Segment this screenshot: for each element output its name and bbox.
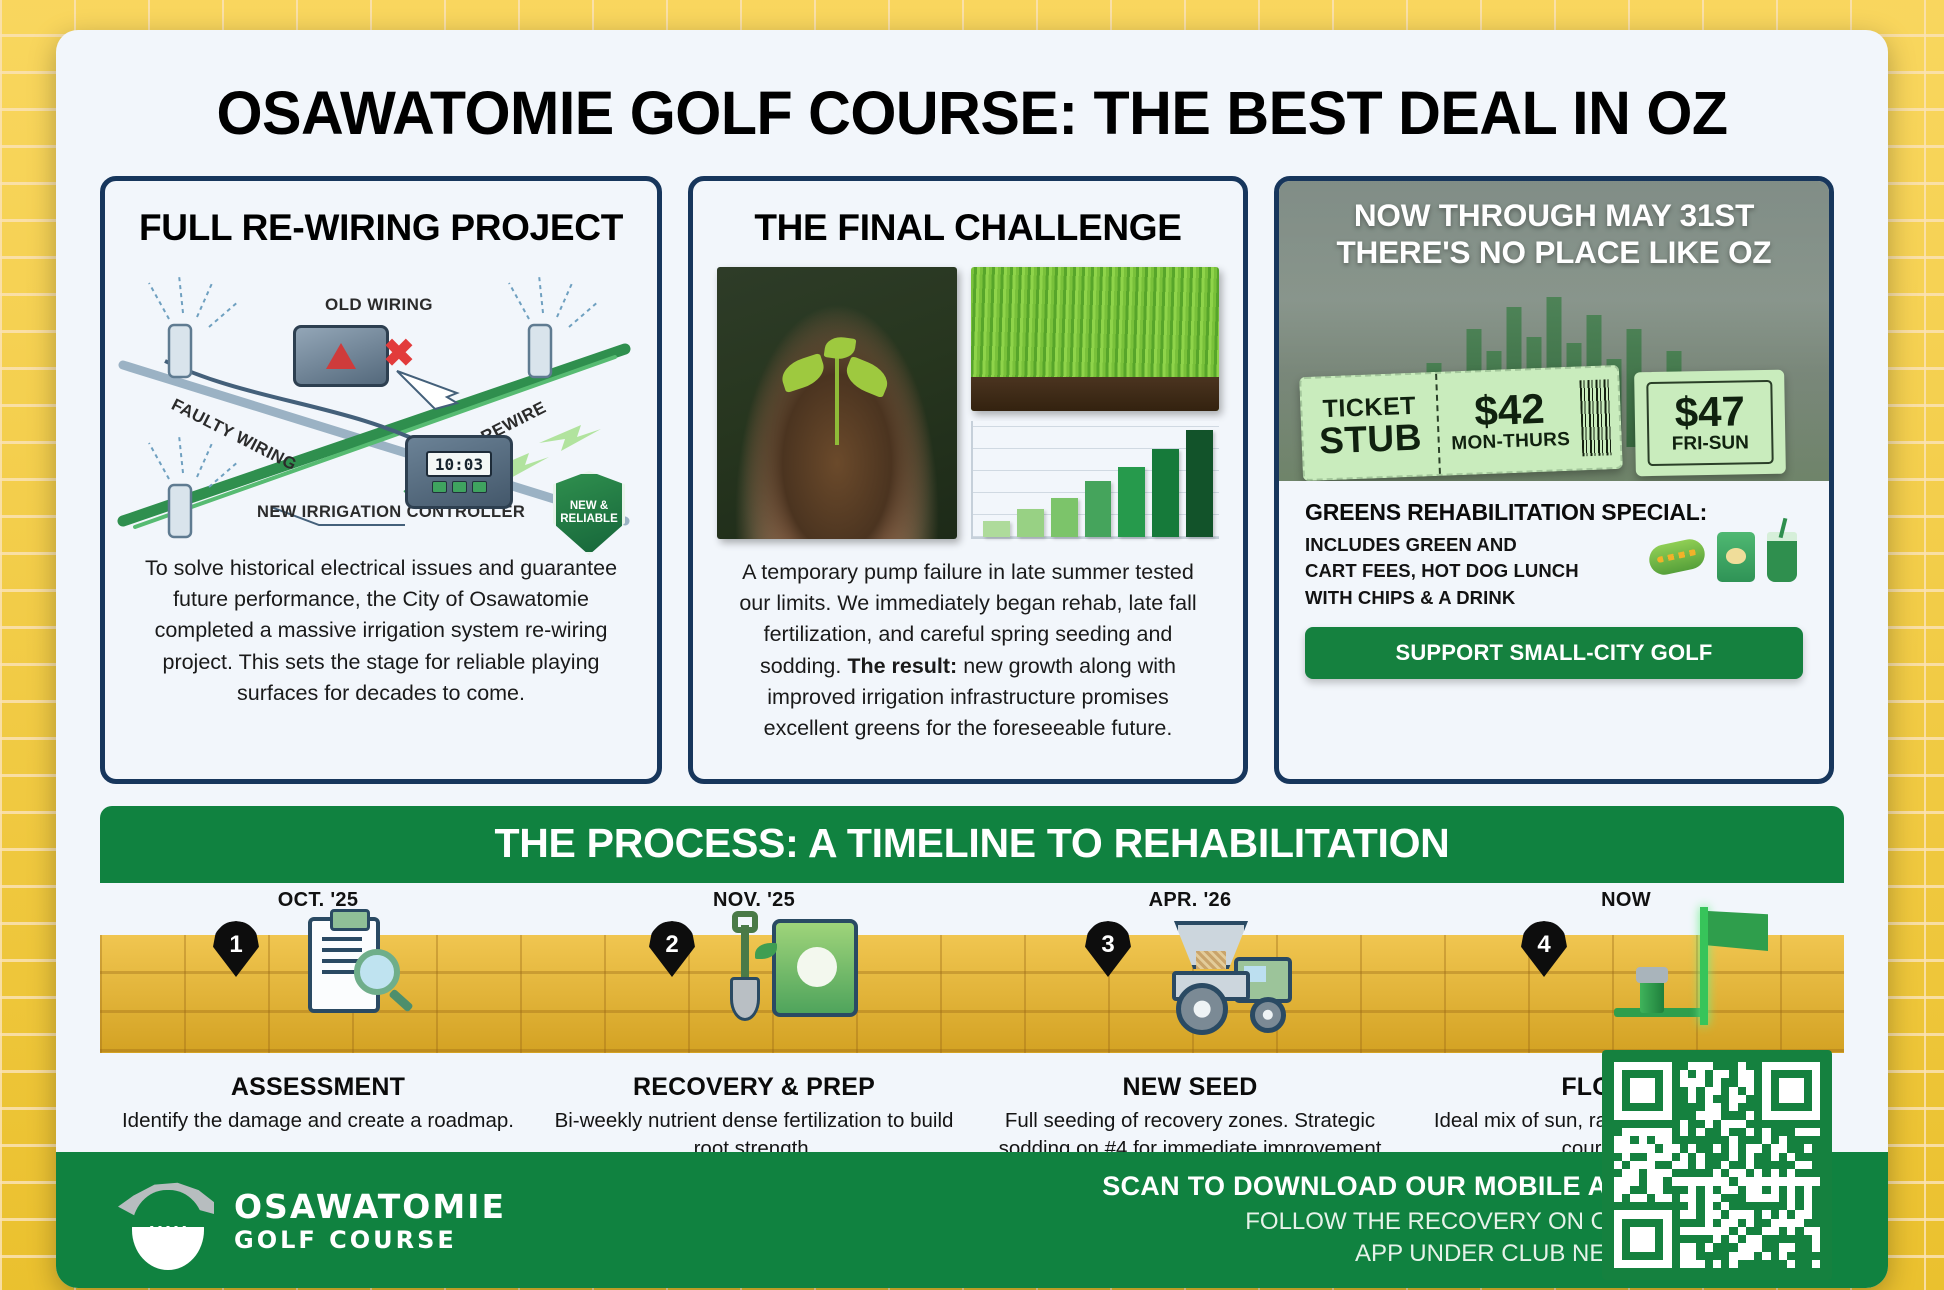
qr-module [1614, 1260, 1622, 1268]
qr-module [1754, 1202, 1762, 1210]
qr-module [1779, 1153, 1787, 1161]
qr-module [1779, 1111, 1787, 1119]
qr-module [1721, 1095, 1729, 1103]
qr-module [1754, 1210, 1762, 1218]
qr-module [1795, 1202, 1803, 1210]
timeline-heading: THE PROCESS: A TIMELINE TO REHABILITATIO… [100, 806, 1844, 883]
qr-module [1746, 1120, 1754, 1128]
qr-module [1754, 1243, 1762, 1251]
qr-module [1688, 1153, 1696, 1161]
special-description: INCLUDES GREEN AND CART FEES, HOT DOG LU… [1305, 532, 1579, 611]
qr-module [1746, 1128, 1754, 1136]
qr-module [1655, 1087, 1663, 1095]
qr-module [1812, 1136, 1820, 1144]
qr-module [1713, 1144, 1721, 1152]
qr-module [1688, 1062, 1696, 1070]
qr-module [1639, 1078, 1647, 1086]
qr-module [1663, 1227, 1671, 1235]
qr-module [1696, 1252, 1704, 1260]
qr-module [1705, 1260, 1713, 1268]
qr-module [1762, 1252, 1770, 1260]
qr-module [1721, 1078, 1729, 1086]
scan-subtext-line2: APP UNDER CLUB NEWS [1102, 1238, 1644, 1270]
qr-module [1622, 1111, 1630, 1119]
qr-module [1787, 1202, 1795, 1210]
qr-module [1795, 1087, 1803, 1095]
qr-module [1672, 1070, 1680, 1078]
qr-module [1771, 1120, 1779, 1128]
qr-module [1688, 1194, 1696, 1202]
qr-module [1754, 1128, 1762, 1136]
ticket-group: TICKET STUB $42 MON-THURS $47 [1301, 371, 1807, 475]
qr-module [1688, 1128, 1696, 1136]
qr-module [1804, 1103, 1812, 1111]
timeline-steps: OCT. '25 1 ASSESSMENT Identify the damag… [100, 883, 1844, 1191]
chart-bar [1051, 498, 1078, 537]
qr-module [1795, 1095, 1803, 1103]
qr-module [1688, 1111, 1696, 1119]
special-title: GREENS REHABILITATION SPECIAL: [1305, 499, 1803, 526]
qr-module [1663, 1243, 1671, 1251]
qr-module [1812, 1260, 1820, 1268]
qr-module [1779, 1219, 1787, 1227]
qr-module [1705, 1210, 1713, 1218]
qr-module [1779, 1210, 1787, 1218]
qr-module [1688, 1136, 1696, 1144]
qr-module [1622, 1120, 1630, 1128]
qr-module [1630, 1260, 1638, 1268]
qr-module [1787, 1103, 1795, 1111]
qr-module [1762, 1062, 1770, 1070]
qr-module [1672, 1243, 1680, 1251]
qr-module [1787, 1136, 1795, 1144]
qr-module [1729, 1144, 1737, 1152]
qr-module [1738, 1136, 1746, 1144]
chart-bar [1017, 509, 1044, 537]
chart-bar [1186, 430, 1213, 537]
qr-module [1729, 1078, 1737, 1086]
qr-module [1729, 1219, 1737, 1227]
qr-module [1688, 1070, 1696, 1078]
qr-module [1713, 1078, 1721, 1086]
qr-module [1771, 1243, 1779, 1251]
qr-module [1762, 1260, 1770, 1268]
qr-module [1622, 1144, 1630, 1152]
qr-module [1795, 1153, 1803, 1161]
qr-module [1688, 1243, 1696, 1251]
qr-module [1738, 1177, 1746, 1185]
qr-module [1647, 1243, 1655, 1251]
qr-module [1762, 1078, 1770, 1086]
qr-module [1672, 1136, 1680, 1144]
qr-module [1754, 1111, 1762, 1119]
qr-module [1705, 1062, 1713, 1070]
qr-module [1655, 1169, 1663, 1177]
qr-module [1639, 1202, 1647, 1210]
qr-module [1705, 1136, 1713, 1144]
qr-module [1630, 1103, 1638, 1111]
qr-module [1762, 1227, 1770, 1235]
hotdog-icon [1646, 537, 1707, 578]
qr-module [1746, 1177, 1754, 1185]
qr-module [1713, 1219, 1721, 1227]
qr-module [1622, 1128, 1630, 1136]
qr-module [1647, 1252, 1655, 1260]
qr-module [1614, 1070, 1622, 1078]
qr-module [1696, 1062, 1704, 1070]
qr-module [1746, 1210, 1754, 1218]
qr-module [1812, 1111, 1820, 1119]
qr-module [1729, 1095, 1737, 1103]
panels-row: FULL RE-WIRING PROJECT [56, 148, 1888, 784]
qr-module [1738, 1210, 1746, 1218]
qr-module [1680, 1070, 1688, 1078]
qr-module [1804, 1227, 1812, 1235]
qr-module [1655, 1144, 1663, 1152]
challenge-right-column [971, 267, 1219, 539]
qr-module [1655, 1252, 1663, 1260]
poster-card: OSAWATOMIE GOLF COURSE: THE BEST DEAL IN… [56, 30, 1888, 1288]
qr-module [1696, 1227, 1704, 1235]
qr-module [1713, 1186, 1721, 1194]
qr-module [1795, 1078, 1803, 1086]
qr-module [1812, 1062, 1820, 1070]
qr-module [1639, 1194, 1647, 1202]
qr-module [1721, 1186, 1729, 1194]
qr-module [1655, 1202, 1663, 1210]
qr-module [1804, 1161, 1812, 1169]
qr-module [1630, 1186, 1638, 1194]
qr-module [1721, 1235, 1729, 1243]
qr-module [1762, 1070, 1770, 1078]
qr-module [1688, 1103, 1696, 1111]
qr-module [1787, 1177, 1795, 1185]
qr-module [1812, 1177, 1820, 1185]
qr-module [1630, 1227, 1638, 1235]
qr-module [1680, 1103, 1688, 1111]
qr-module [1738, 1227, 1746, 1235]
qr-module [1639, 1087, 1647, 1095]
clipboard-magnifier-icon [288, 907, 458, 1057]
qr-module [1663, 1169, 1671, 1177]
qr-module [1672, 1078, 1680, 1086]
qr-module [1696, 1169, 1704, 1177]
qr-module [1721, 1128, 1729, 1136]
qr-module [1705, 1202, 1713, 1210]
qr-module [1622, 1202, 1630, 1210]
qr-module [1721, 1169, 1729, 1177]
qr-module [1787, 1128, 1795, 1136]
qr-module [1721, 1103, 1729, 1111]
qr-module [1614, 1153, 1622, 1161]
qr-module [1655, 1120, 1663, 1128]
qr-module [1771, 1087, 1779, 1095]
qr-module [1663, 1161, 1671, 1169]
chart-bar [1085, 481, 1112, 537]
qr-module [1696, 1194, 1704, 1202]
promo-headline-line2: THERE'S NO PLACE LIKE OZ [1293, 234, 1815, 271]
qr-module [1746, 1202, 1754, 1210]
timeline-body: OCT. '25 1 ASSESSMENT Identify the damag… [100, 883, 1844, 1191]
ticket-price-value: $42 [1474, 388, 1546, 433]
qr-module [1804, 1136, 1812, 1144]
process-timeline: THE PROCESS: A TIMELINE TO REHABILITATIO… [100, 806, 1844, 1191]
qr-module [1771, 1210, 1779, 1218]
qr-module [1721, 1210, 1729, 1218]
ticket-weekend-inner: $47 FRI-SUN [1646, 380, 1773, 466]
qr-module [1647, 1120, 1655, 1128]
qr-module [1762, 1219, 1770, 1227]
qr-module [1647, 1095, 1655, 1103]
controller-display: 10:03 [426, 451, 492, 477]
grass-seedlings-photo [971, 267, 1219, 411]
qr-module [1729, 1070, 1737, 1078]
qr-module [1746, 1194, 1754, 1202]
qr-module [1622, 1227, 1630, 1235]
qr-module [1663, 1194, 1671, 1202]
qr-module [1787, 1144, 1795, 1152]
qr-module [1804, 1128, 1812, 1136]
qr-module [1812, 1095, 1820, 1103]
qr-module [1804, 1078, 1812, 1086]
qr-module [1746, 1103, 1754, 1111]
special-line-2: CART FEES, HOT DOG LUNCH [1305, 558, 1579, 584]
qr-module [1779, 1062, 1787, 1070]
panel-final-challenge: THE FINAL CHALLENGE [688, 176, 1248, 784]
hand-holding-sprout-photo [717, 267, 957, 539]
qr-module [1639, 1252, 1647, 1260]
qr-module [1647, 1087, 1655, 1095]
qr-module [1688, 1095, 1696, 1103]
qr-module [1630, 1219, 1638, 1227]
qr-module [1746, 1144, 1754, 1152]
qr-module [1812, 1120, 1820, 1128]
magnifier-icon [354, 949, 400, 995]
step-description: Identify the damage and create a roadmap… [100, 1107, 536, 1135]
qr-module [1804, 1070, 1812, 1078]
qr-module [1680, 1062, 1688, 1070]
ticket-stub-weekend: $47 FRI-SUN [1634, 370, 1786, 477]
qr-module [1754, 1161, 1762, 1169]
qr-module [1680, 1186, 1688, 1194]
qr-module [1771, 1186, 1779, 1194]
qr-module [1746, 1136, 1754, 1144]
qr-module [1754, 1252, 1762, 1260]
qr-module [1812, 1128, 1820, 1136]
qr-module [1738, 1087, 1746, 1095]
greens-special-section: GREENS REHABILITATION SPECIAL: INCLUDES … [1279, 481, 1829, 611]
qr-module [1672, 1194, 1680, 1202]
panel-rewiring-heading: FULL RE-WIRING PROJECT [105, 181, 657, 253]
qr-module [1630, 1144, 1638, 1152]
qr-module [1746, 1070, 1754, 1078]
qr-module [1655, 1153, 1663, 1161]
ticket-days-value: MON-THURS [1451, 429, 1571, 456]
qr-module [1795, 1219, 1803, 1227]
qr-module [1795, 1144, 1803, 1152]
sprout-stem [835, 353, 839, 445]
qr-module [1787, 1153, 1795, 1161]
qr-module [1713, 1087, 1721, 1095]
seeds-icon [1196, 951, 1226, 969]
qr-module [1630, 1120, 1638, 1128]
qr-module [1779, 1169, 1787, 1177]
sprout-leaf [778, 353, 828, 393]
qr-module [1672, 1252, 1680, 1260]
qr-module [1754, 1169, 1762, 1177]
chart-bar [1152, 449, 1179, 537]
step-title: RECOVERY & PREP [536, 1073, 972, 1102]
qr-module [1729, 1194, 1737, 1202]
qr-module [1762, 1194, 1770, 1202]
qr-module [1738, 1161, 1746, 1169]
qr-module [1729, 1161, 1737, 1169]
qr-module [1787, 1235, 1795, 1243]
qr-module [1622, 1087, 1630, 1095]
qr-module [1812, 1153, 1820, 1161]
qr-module [1787, 1070, 1795, 1078]
qr-module [1647, 1186, 1655, 1194]
qr-module [1729, 1136, 1737, 1144]
qr-module [1680, 1227, 1688, 1235]
panel-rewiring-body: To solve historical electrical issues an… [105, 553, 657, 709]
qr-module [1729, 1177, 1737, 1185]
step-title: ASSESSMENT [100, 1073, 536, 1102]
qr-module [1614, 1161, 1622, 1169]
qr-module [1688, 1252, 1696, 1260]
qr-module [1738, 1095, 1746, 1103]
qr-module [1696, 1186, 1704, 1194]
qr-module [1779, 1070, 1787, 1078]
qr-module [1622, 1070, 1630, 1078]
qr-module [1655, 1111, 1663, 1119]
qr-module [1795, 1210, 1803, 1218]
qr-module [1672, 1202, 1680, 1210]
qr-module [1688, 1087, 1696, 1095]
qr-module [1614, 1219, 1622, 1227]
step-pin-marker: 3 [1085, 921, 1131, 977]
support-small-city-golf-button[interactable]: SUPPORT SMALL-CITY GOLF [1305, 627, 1803, 679]
qr-module [1672, 1210, 1680, 1218]
qr-module [1680, 1087, 1688, 1095]
ticket-stub-label: TICKET STUB [1301, 374, 1441, 479]
qr-module [1779, 1144, 1787, 1152]
qr-module [1696, 1177, 1704, 1185]
qr-module [1804, 1144, 1812, 1152]
qr-module [1680, 1136, 1688, 1144]
qr-module [1688, 1120, 1696, 1128]
qr-module [1746, 1169, 1754, 1177]
qr-code[interactable] [1602, 1050, 1832, 1280]
qr-module [1713, 1136, 1721, 1144]
qr-module [1738, 1144, 1746, 1152]
qr-module [1614, 1095, 1622, 1103]
qr-module [1721, 1252, 1729, 1260]
qr-module [1647, 1194, 1655, 1202]
qr-module [1614, 1120, 1622, 1128]
qr-module [1713, 1153, 1721, 1161]
qr-module [1622, 1186, 1630, 1194]
qr-module [1779, 1161, 1787, 1169]
qr-module [1705, 1087, 1713, 1095]
qr-module [1630, 1111, 1638, 1119]
qr-module [1721, 1243, 1729, 1251]
qr-module [1655, 1070, 1663, 1078]
qr-module [1721, 1062, 1729, 1070]
qr-module [1721, 1219, 1729, 1227]
qr-module [1762, 1111, 1770, 1119]
sprinkler-icon [1614, 963, 1704, 1025]
qr-module [1655, 1062, 1663, 1070]
qr-module [1779, 1260, 1787, 1268]
qr-module [1762, 1202, 1770, 1210]
qr-module [1630, 1169, 1638, 1177]
qr-module [1738, 1120, 1746, 1128]
qr-module [1746, 1219, 1754, 1227]
qr-module [1622, 1136, 1630, 1144]
qr-module [1771, 1202, 1779, 1210]
qr-module [1713, 1202, 1721, 1210]
qr-module [1738, 1103, 1746, 1111]
qr-module [1754, 1103, 1762, 1111]
qr-module [1713, 1210, 1721, 1218]
panel-challenge-body: A temporary pump failure in late summer … [693, 557, 1243, 744]
qr-module [1647, 1219, 1655, 1227]
qr-module [1746, 1087, 1754, 1095]
qr-module [1680, 1078, 1688, 1086]
qr-module [1663, 1078, 1671, 1086]
qr-module [1705, 1144, 1713, 1152]
qr-module [1779, 1186, 1787, 1194]
qr-module [1614, 1103, 1622, 1111]
qr-module [1688, 1219, 1696, 1227]
qr-module [1663, 1136, 1671, 1144]
qr-module [1655, 1186, 1663, 1194]
qr-module [1754, 1235, 1762, 1243]
qr-module [1804, 1169, 1812, 1177]
qr-module [1688, 1186, 1696, 1194]
qr-module [1771, 1252, 1779, 1260]
qr-module [1630, 1243, 1638, 1251]
qr-module [1663, 1144, 1671, 1152]
qr-module [1738, 1062, 1746, 1070]
qr-module [1754, 1177, 1762, 1185]
qr-module [1705, 1070, 1713, 1078]
qr-module [1655, 1136, 1663, 1144]
qr-module [1630, 1095, 1638, 1103]
qr-module [1696, 1120, 1704, 1128]
qr-module [1630, 1087, 1638, 1095]
qr-module [1804, 1177, 1812, 1185]
qr-module [1639, 1144, 1647, 1152]
qr-module [1795, 1136, 1803, 1144]
qr-module [1696, 1136, 1704, 1144]
qr-module [1680, 1210, 1688, 1218]
qr-module [1779, 1243, 1787, 1251]
qr-module [1795, 1070, 1803, 1078]
qr-module [1729, 1227, 1737, 1235]
qr-module [1655, 1128, 1663, 1136]
qr-module [1779, 1120, 1787, 1128]
qr-module [1746, 1095, 1754, 1103]
qr-module [1630, 1136, 1638, 1144]
qr-module [1663, 1219, 1671, 1227]
qr-module [1721, 1260, 1729, 1268]
qr-module [1614, 1128, 1622, 1136]
promo-course-photo: NOW THROUGH MAY 31ST THERE'S NO PLACE LI… [1279, 181, 1829, 481]
qr-module [1812, 1235, 1820, 1243]
qr-module [1680, 1235, 1688, 1243]
